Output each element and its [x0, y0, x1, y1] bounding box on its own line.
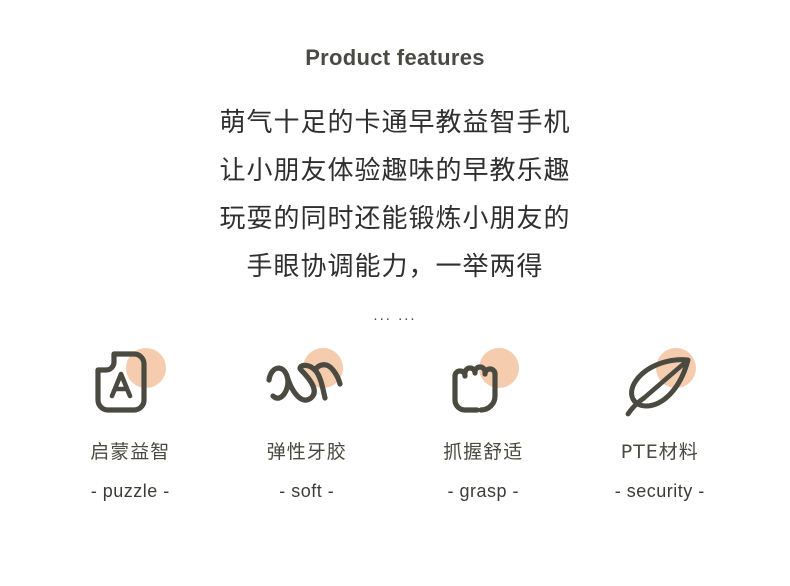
feature-label-cn: 抓握舒适: [443, 437, 523, 464]
feature-label-en: - soft -: [279, 481, 334, 502]
feature-label-en: - puzzle -: [91, 481, 170, 502]
icon-container: [614, 346, 706, 418]
feature-label-cn: 弹性牙胶: [267, 437, 347, 464]
description-line: 让小朋友体验趣味的早教乐趣: [0, 147, 790, 195]
description-line: 萌气十足的卡通早教益智手机: [0, 99, 790, 147]
feature-item-grasp[interactable]: 抓握舒适 - grasp -: [395, 346, 572, 502]
page-title: Product features: [0, 0, 790, 72]
feature-label-cn: 启蒙益智: [90, 437, 170, 464]
feature-label-en: - security -: [615, 481, 705, 502]
dots-separator: ... ...: [0, 307, 790, 324]
spring-coil-icon: [261, 346, 353, 418]
grasping-hand-icon: [437, 346, 529, 418]
icon-container: [437, 346, 529, 418]
icon-container: [261, 346, 353, 418]
feature-list: 启蒙益智 - puzzle - 弹性牙胶 - soft -: [0, 346, 790, 502]
feature-label-cn: PTE材料: [621, 437, 699, 464]
leaf-icon: [614, 346, 706, 418]
feature-item-security[interactable]: PTE材料 - security -: [572, 346, 749, 502]
card-letter-a-icon: [84, 346, 176, 418]
feature-item-puzzle[interactable]: 启蒙益智 - puzzle -: [42, 346, 219, 502]
description-line: 手眼协调能力，一举两得: [0, 243, 790, 291]
product-features-page: Product features 萌气十足的卡通早教益智手机 让小朋友体验趣味的…: [0, 0, 790, 586]
feature-label-en: - grasp -: [447, 481, 519, 502]
description-block: 萌气十足的卡通早教益智手机 让小朋友体验趣味的早教乐趣 玩耍的同时还能锻炼小朋友…: [0, 99, 790, 291]
icon-container: [84, 346, 176, 418]
feature-item-soft[interactable]: 弹性牙胶 - soft -: [219, 346, 396, 502]
description-line: 玩耍的同时还能锻炼小朋友的: [0, 195, 790, 243]
